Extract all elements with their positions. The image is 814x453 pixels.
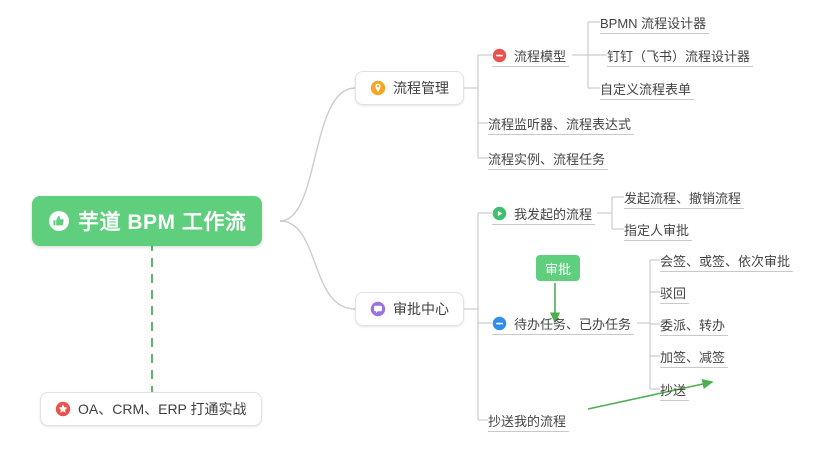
node-cc-to-me-label: 抄送我的流程 (488, 415, 566, 428)
node-bpmn-designer[interactable]: BPMN 流程设计器 (600, 8, 709, 34)
node-cc-label: 抄送 (660, 384, 686, 397)
node-start-cancel-label: 发起流程、撤销流程 (624, 192, 741, 205)
node-custom-process-form[interactable]: 自定义流程表单 (600, 74, 694, 100)
star-icon (55, 401, 71, 417)
node-listener-expression[interactable]: 流程监听器、流程表达式 (488, 109, 634, 135)
node-add-remove-sign[interactable]: 加签、减签 (660, 342, 728, 368)
node-process-model-label: 流程模型 (514, 50, 566, 63)
node-dingtalk-feishu-designer[interactable]: 钉钉（飞书）流程设计器 (607, 41, 753, 67)
node-instance-task-label: 流程实例、流程任务 (488, 153, 605, 166)
root-node-label: 芋道 BPM 工作流 (78, 206, 246, 236)
play-circle-icon (492, 206, 507, 221)
branch-process-management-label: 流程管理 (393, 78, 449, 98)
node-multi-approve[interactable]: 会签、或签、依次审批 (660, 246, 793, 272)
node-my-initiated-label: 我发起的流程 (514, 208, 592, 221)
node-process-model[interactable]: 流程模型 (492, 41, 569, 67)
node-assign-approver-label: 指定人审批 (624, 224, 689, 237)
node-reject[interactable]: 驳回 (660, 278, 689, 304)
chat-circle-icon (370, 301, 386, 317)
footnote-node[interactable]: OA、CRM、ERP 打通实战 (40, 392, 262, 426)
root-node[interactable]: 芋道 BPM 工作流 (32, 196, 262, 246)
node-reject-label: 驳回 (660, 287, 686, 300)
tag-approve[interactable]: 审批 (536, 255, 580, 281)
branch-approval-center[interactable]: 审批中心 (355, 292, 464, 326)
mindmap-canvas: 芋道 BPM 工作流 OA、CRM、ERP 打通实战 流程管理 (0, 0, 814, 453)
node-assign-approver[interactable]: 指定人审批 (624, 215, 692, 241)
node-my-initiated[interactable]: 我发起的流程 (492, 199, 595, 225)
minus-circle-icon (492, 48, 507, 63)
node-todo-done[interactable]: 待办任务、已办任务 (492, 309, 634, 335)
node-cc[interactable]: 抄送 (660, 375, 689, 401)
node-start-cancel[interactable]: 发起流程、撤销流程 (624, 183, 744, 209)
node-instance-task[interactable]: 流程实例、流程任务 (488, 144, 608, 170)
node-dingtalk-feishu-designer-label: 钉钉（飞书）流程设计器 (607, 50, 750, 63)
thumbs-up-icon (48, 210, 70, 232)
node-todo-done-label: 待办任务、已办任务 (514, 318, 631, 331)
node-delegate-transfer-label: 委派、转办 (660, 319, 725, 332)
node-custom-process-form-label: 自定义流程表单 (600, 83, 691, 96)
tag-approve-label: 审批 (545, 259, 571, 278)
branch-approval-center-label: 审批中心 (393, 299, 449, 319)
location-pin-icon (370, 80, 386, 96)
node-delegate-transfer[interactable]: 委派、转办 (660, 310, 728, 336)
node-multi-approve-label: 会签、或签、依次审批 (660, 255, 790, 268)
branch-process-management[interactable]: 流程管理 (355, 71, 464, 105)
footnote-node-label: OA、CRM、ERP 打通实战 (78, 399, 247, 419)
node-bpmn-designer-label: BPMN 流程设计器 (600, 17, 706, 30)
minus-square-icon (492, 316, 507, 331)
node-listener-expression-label: 流程监听器、流程表达式 (488, 118, 631, 131)
node-cc-to-me[interactable]: 抄送我的流程 (488, 406, 569, 432)
node-add-remove-sign-label: 加签、减签 (660, 351, 725, 364)
